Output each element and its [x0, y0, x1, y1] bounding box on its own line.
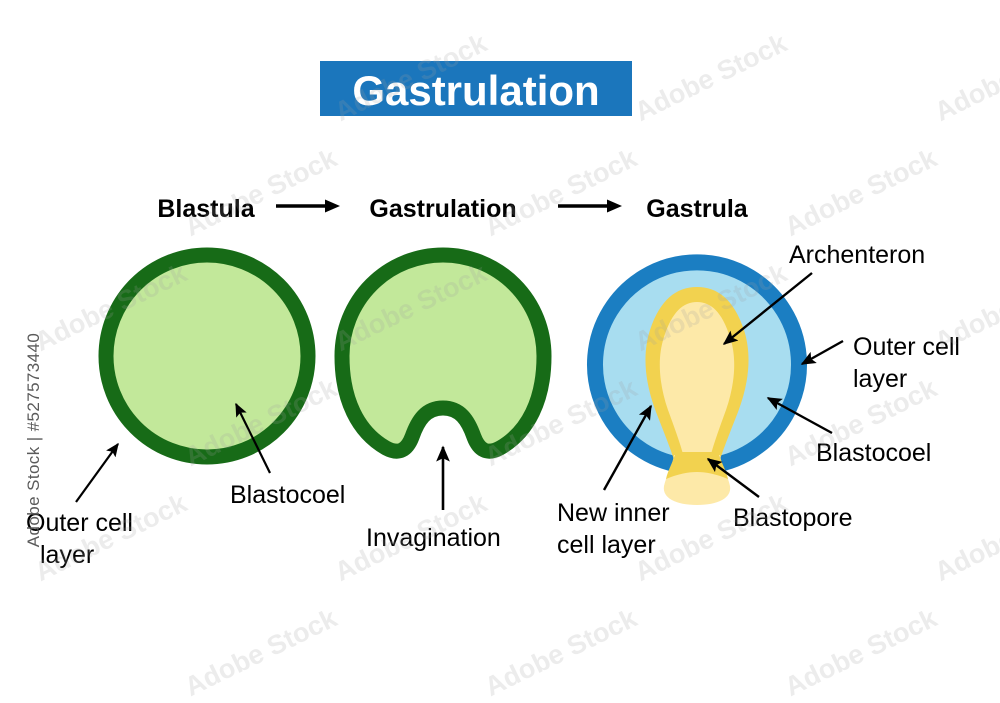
gastrulation-figure: Gastrulation Blastula Gastrulation Gastr… — [0, 0, 1000, 680]
label-gastrula-new-inner-cell-layer-line2: cell layer — [557, 531, 656, 559]
label-blastula-outer-cell-layer-line1: Outer cell — [26, 509, 133, 537]
stage-label-gastrulation: Gastrulation — [369, 195, 516, 223]
blastula-outer-cell-layer — [106, 255, 308, 457]
label-gastrula-outer-cell-layer-line1: Outer cell — [853, 333, 960, 361]
stage-label-blastula: Blastula — [157, 195, 255, 223]
flow-arrow-2-icon — [558, 200, 622, 213]
label-gastrulation-invagination: Invagination — [366, 524, 501, 552]
diagram-gastrulation — [342, 255, 544, 451]
diagram-blastula — [106, 255, 308, 457]
diagram-canvas: Gastrulation Blastula Gastrulation Gastr… — [0, 0, 1000, 680]
leader-gastrula-outer-cell-layer — [802, 341, 843, 364]
title-banner-text: Gastrulation — [352, 67, 599, 114]
title-banner: Gastrulation — [320, 61, 632, 116]
leader-blastula-outer-cell-layer — [76, 444, 118, 502]
label-gastrula-blastocoel: Blastocoel — [816, 439, 931, 467]
label-gastrula-blastopore: Blastopore — [733, 504, 853, 532]
label-blastula-blastocoel: Blastocoel — [230, 481, 345, 509]
flow-arrow-1-icon — [276, 200, 340, 213]
diagram-gastrula — [595, 262, 799, 505]
stage-flow: Blastula Gastrulation Gastrula — [157, 195, 748, 223]
label-blastula-outer-cell-layer-line2: layer — [40, 541, 94, 569]
label-gastrula-archenteron: Archenteron — [789, 241, 925, 269]
stage-label-gastrula: Gastrula — [646, 195, 749, 223]
label-gastrula-new-inner-cell-layer-line1: New inner — [557, 499, 670, 527]
gastrulation-outer-cell-layer — [342, 255, 544, 451]
label-gastrula-outer-cell-layer-line2: layer — [853, 365, 907, 393]
